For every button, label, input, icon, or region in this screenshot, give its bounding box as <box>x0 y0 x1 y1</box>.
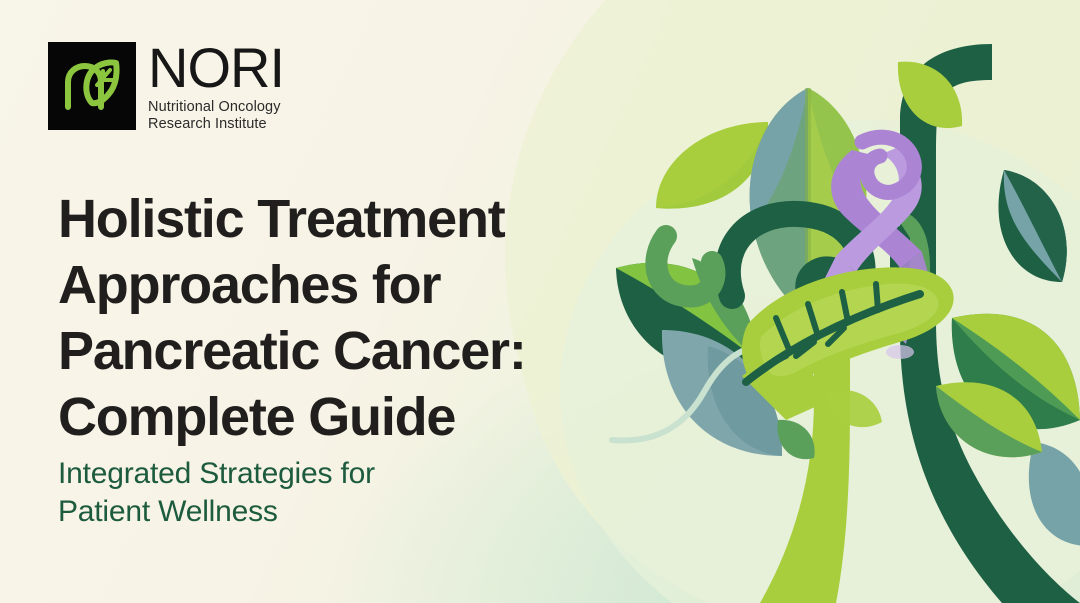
pancreatic-cancer-awareness-tree-illustration <box>600 0 1080 603</box>
hero-banner: NORI Nutritional Oncology Research Insti… <box>0 0 1080 603</box>
swirl-left-green <box>656 236 714 297</box>
brand-wordmark: NORI <box>148 44 284 92</box>
leaf-right-upper <box>999 170 1067 282</box>
leaf-bottom-center-small <box>777 420 814 459</box>
page-subtitle: Integrated Strategies for Patient Wellne… <box>58 455 528 531</box>
brand-logo[interactable]: NORI Nutritional Oncology Research Insti… <box>48 42 284 133</box>
brand-tagline: Nutritional Oncology Research Institute <box>148 99 284 133</box>
leaf-n-monogram-icon <box>48 42 136 130</box>
page-title: Holistic Treatment Approaches for Pancre… <box>58 186 658 450</box>
leaf-right-lower-teal <box>1029 442 1080 546</box>
brand-logo-text: NORI Nutritional Oncology Research Insti… <box>148 42 284 133</box>
